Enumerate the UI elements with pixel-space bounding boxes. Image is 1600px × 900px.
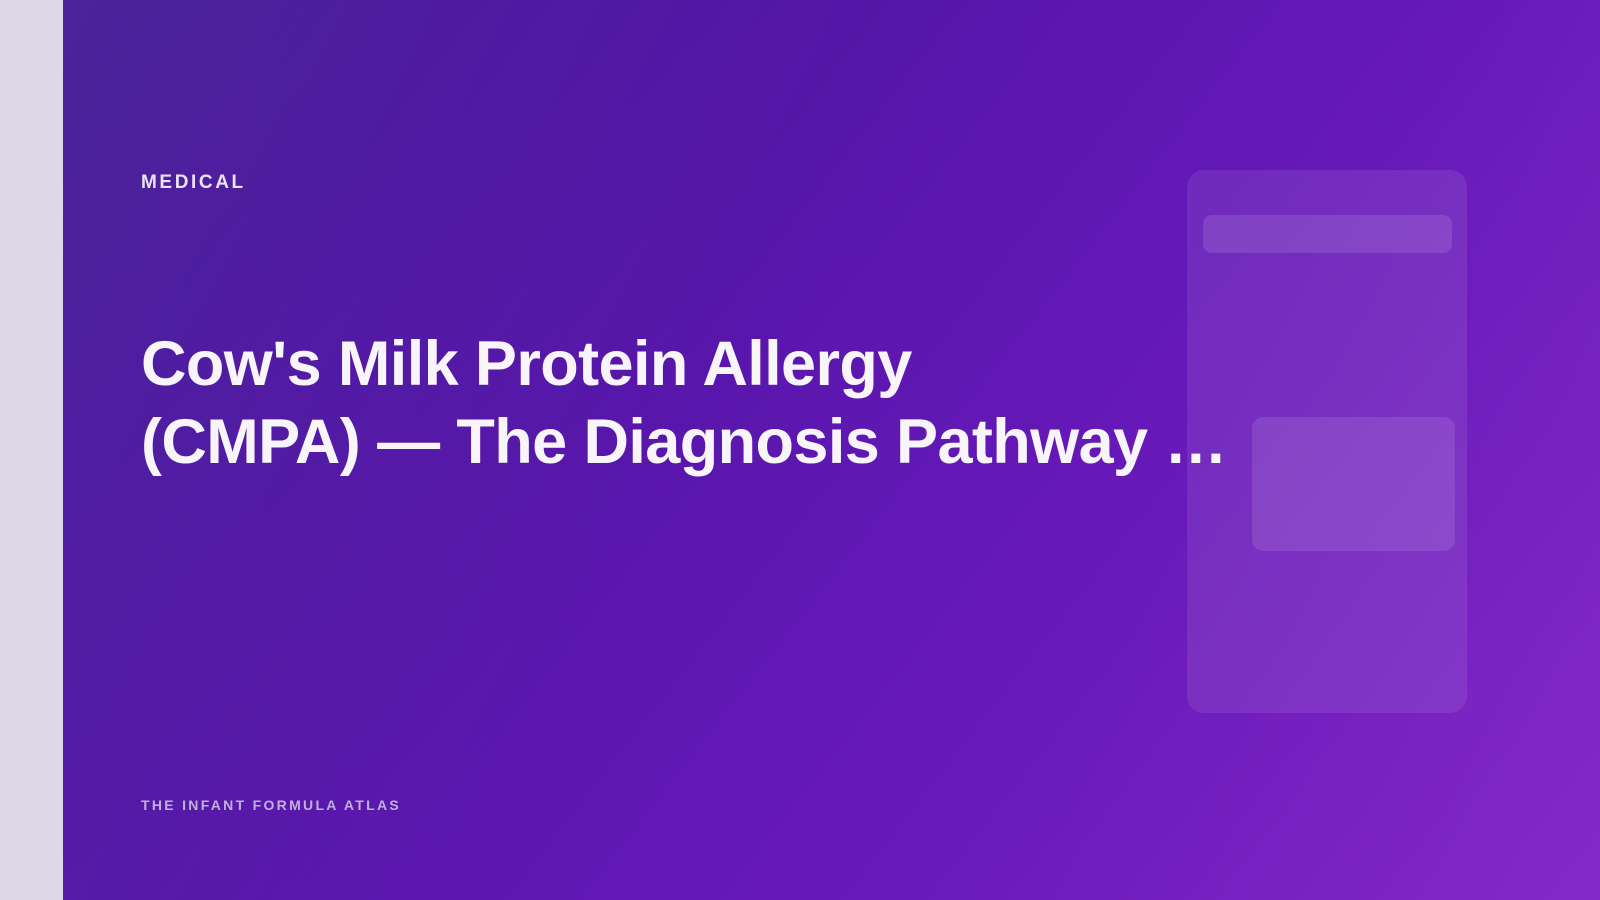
title-slide: MEDICAL Cow's Milk Protein Allergy (CMPA… [0, 0, 1600, 900]
brand-footer-label: THE INFANT FORMULA ATLAS [141, 795, 401, 815]
page-title-line-2: (CMPA) — The Diagnosis Pathway Explained [141, 403, 1259, 481]
slide-canvas: MEDICAL Cow's Milk Protein Allergy (CMPA… [63, 0, 1600, 900]
page-title-line-1: Cow's Milk Protein Allergy [141, 325, 1259, 403]
slide-content: MEDICAL Cow's Milk Protein Allergy (CMPA… [141, 0, 1259, 900]
decorative-card-block [1252, 417, 1455, 551]
category-label: MEDICAL [141, 170, 246, 196]
left-accent-strip [0, 0, 63, 900]
page-title: Cow's Milk Protein Allergy (CMPA) — The … [141, 325, 1259, 481]
